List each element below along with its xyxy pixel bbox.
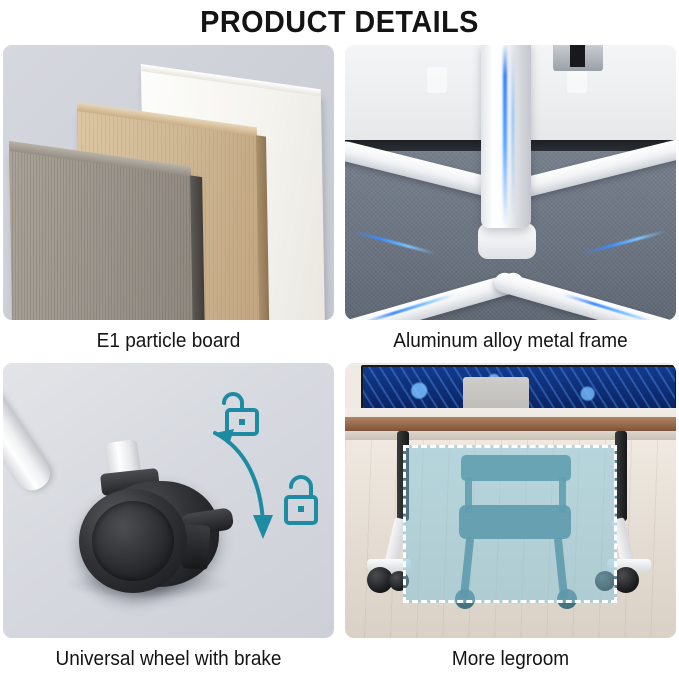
wall-detail-left <box>427 67 447 93</box>
monitor-stand <box>553 45 603 71</box>
feature-grid: E1 particle board <box>3 45 676 665</box>
arrowhead-down <box>253 515 273 539</box>
column-led-glow <box>503 45 507 225</box>
product-details-infographic: PRODUCT DETAILS E1 particle board <box>0 0 679 673</box>
caption-metal-frame: Aluminum alloy metal frame <box>353 320 667 363</box>
universal-wheel-image <box>3 363 334 638</box>
leg-tube-upper <box>3 370 56 497</box>
more-legroom-image <box>345 363 676 638</box>
desk-top-edge <box>345 417 676 431</box>
lock-icon <box>286 477 316 523</box>
caster-wheel-front <box>79 489 187 593</box>
caption-more-legroom: More legroom <box>353 638 667 681</box>
caption-universal-wheel: Universal wheel with brake <box>11 638 325 681</box>
metal-frame-image <box>345 45 676 320</box>
frame-center-column <box>481 45 531 228</box>
feature-cell-universal-wheel: Universal wheel with brake <box>3 363 334 681</box>
page-title: PRODUCT DETAILS <box>24 0 655 44</box>
unlock-icon <box>224 394 257 434</box>
column-led-glow-secondary <box>512 51 514 216</box>
feature-cell-metal-frame: Aluminum alloy metal frame <box>345 45 676 363</box>
arrowhead-up <box>215 429 234 445</box>
frame-center-hub <box>478 223 536 259</box>
feature-cell-more-legroom: More legroom <box>345 363 676 681</box>
particle-board-image <box>3 45 334 320</box>
caption-particle-board: E1 particle board <box>11 320 325 363</box>
feature-cell-particle-board: E1 particle board <box>3 45 334 363</box>
white-board-edge <box>141 64 321 96</box>
gray-board-sample <box>9 150 195 320</box>
legroom-highlight-area <box>403 445 617 603</box>
